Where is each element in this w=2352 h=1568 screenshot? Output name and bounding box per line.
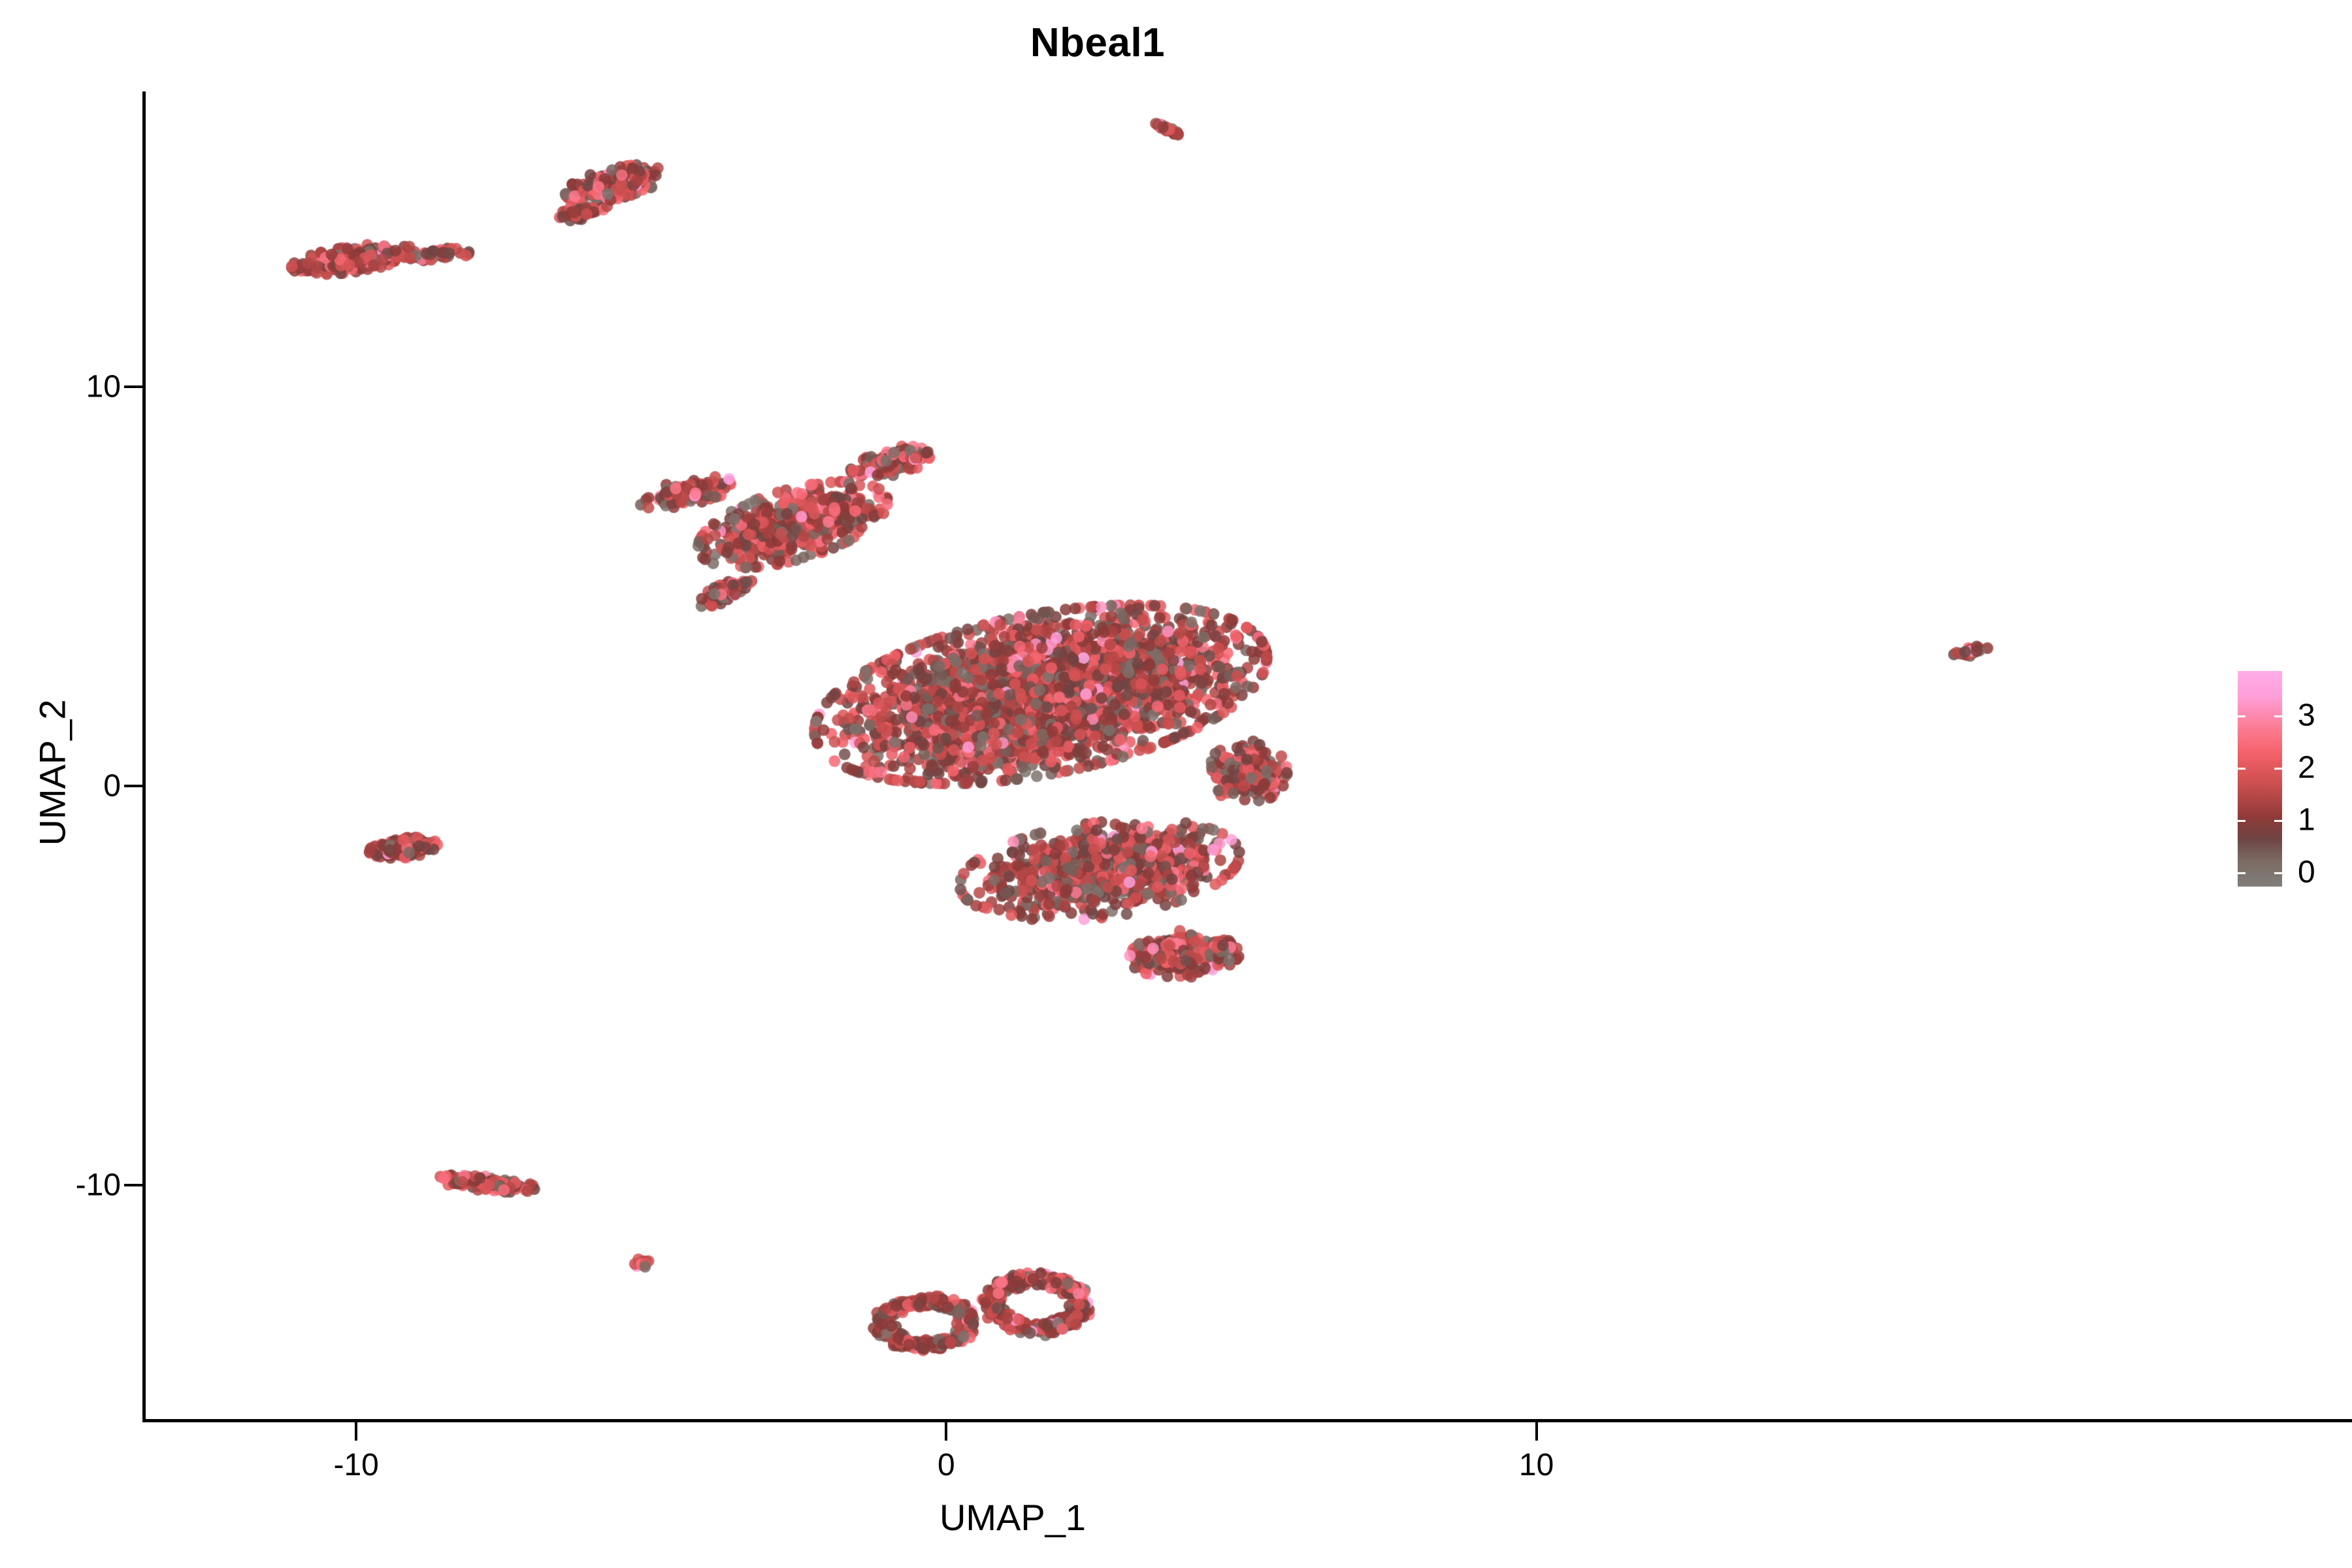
- legend-tick-mark: [2274, 820, 2282, 822]
- umap-feature-plot: Nbeal1 -10010-10010 UMAP_2 UMAP_1 0123: [0, 0, 2352, 1568]
- y-tick-mark: [124, 1184, 142, 1186]
- legend-tick-label: 0: [2298, 854, 2315, 890]
- legend-tick-mark: [2238, 768, 2246, 770]
- legend-tick-label: 1: [2298, 802, 2315, 838]
- x-tick-mark: [945, 1422, 947, 1441]
- legend-colorbar: [2238, 671, 2282, 887]
- x-tick-label: -10: [333, 1447, 378, 1483]
- y-axis-label: UMAP_2: [31, 610, 74, 936]
- y-tick-mark: [124, 785, 142, 787]
- legend-tick-mark: [2274, 768, 2282, 770]
- legend-tick-label: 2: [2298, 749, 2315, 785]
- legend-tick-label: 3: [2298, 697, 2315, 733]
- legend-tick-mark: [2274, 715, 2282, 717]
- x-tick-mark: [355, 1422, 357, 1441]
- legend-tick-mark: [2238, 872, 2246, 874]
- x-tick-label: 0: [938, 1447, 955, 1483]
- legend-tick-mark: [2274, 872, 2282, 874]
- scatter-points-canvas: [144, 91, 2156, 1421]
- x-tick-label: 10: [1519, 1447, 1554, 1483]
- x-axis-label: UMAP_1: [869, 1496, 1156, 1539]
- y-tick-label: 0: [103, 768, 121, 804]
- y-axis-line: [142, 91, 146, 1422]
- page-title: Nbeal1: [0, 20, 2195, 66]
- color-legend: 0123: [2238, 671, 2336, 887]
- y-tick-label: 10: [86, 369, 121, 405]
- y-tick-mark: [124, 385, 142, 388]
- x-tick-mark: [1535, 1422, 1538, 1441]
- legend-tick-mark: [2238, 820, 2246, 822]
- legend-tick-mark: [2238, 715, 2246, 717]
- y-tick-label: -10: [76, 1168, 121, 1203]
- x-axis-line: [142, 1419, 2352, 1422]
- plot-panel: [144, 91, 2156, 1421]
